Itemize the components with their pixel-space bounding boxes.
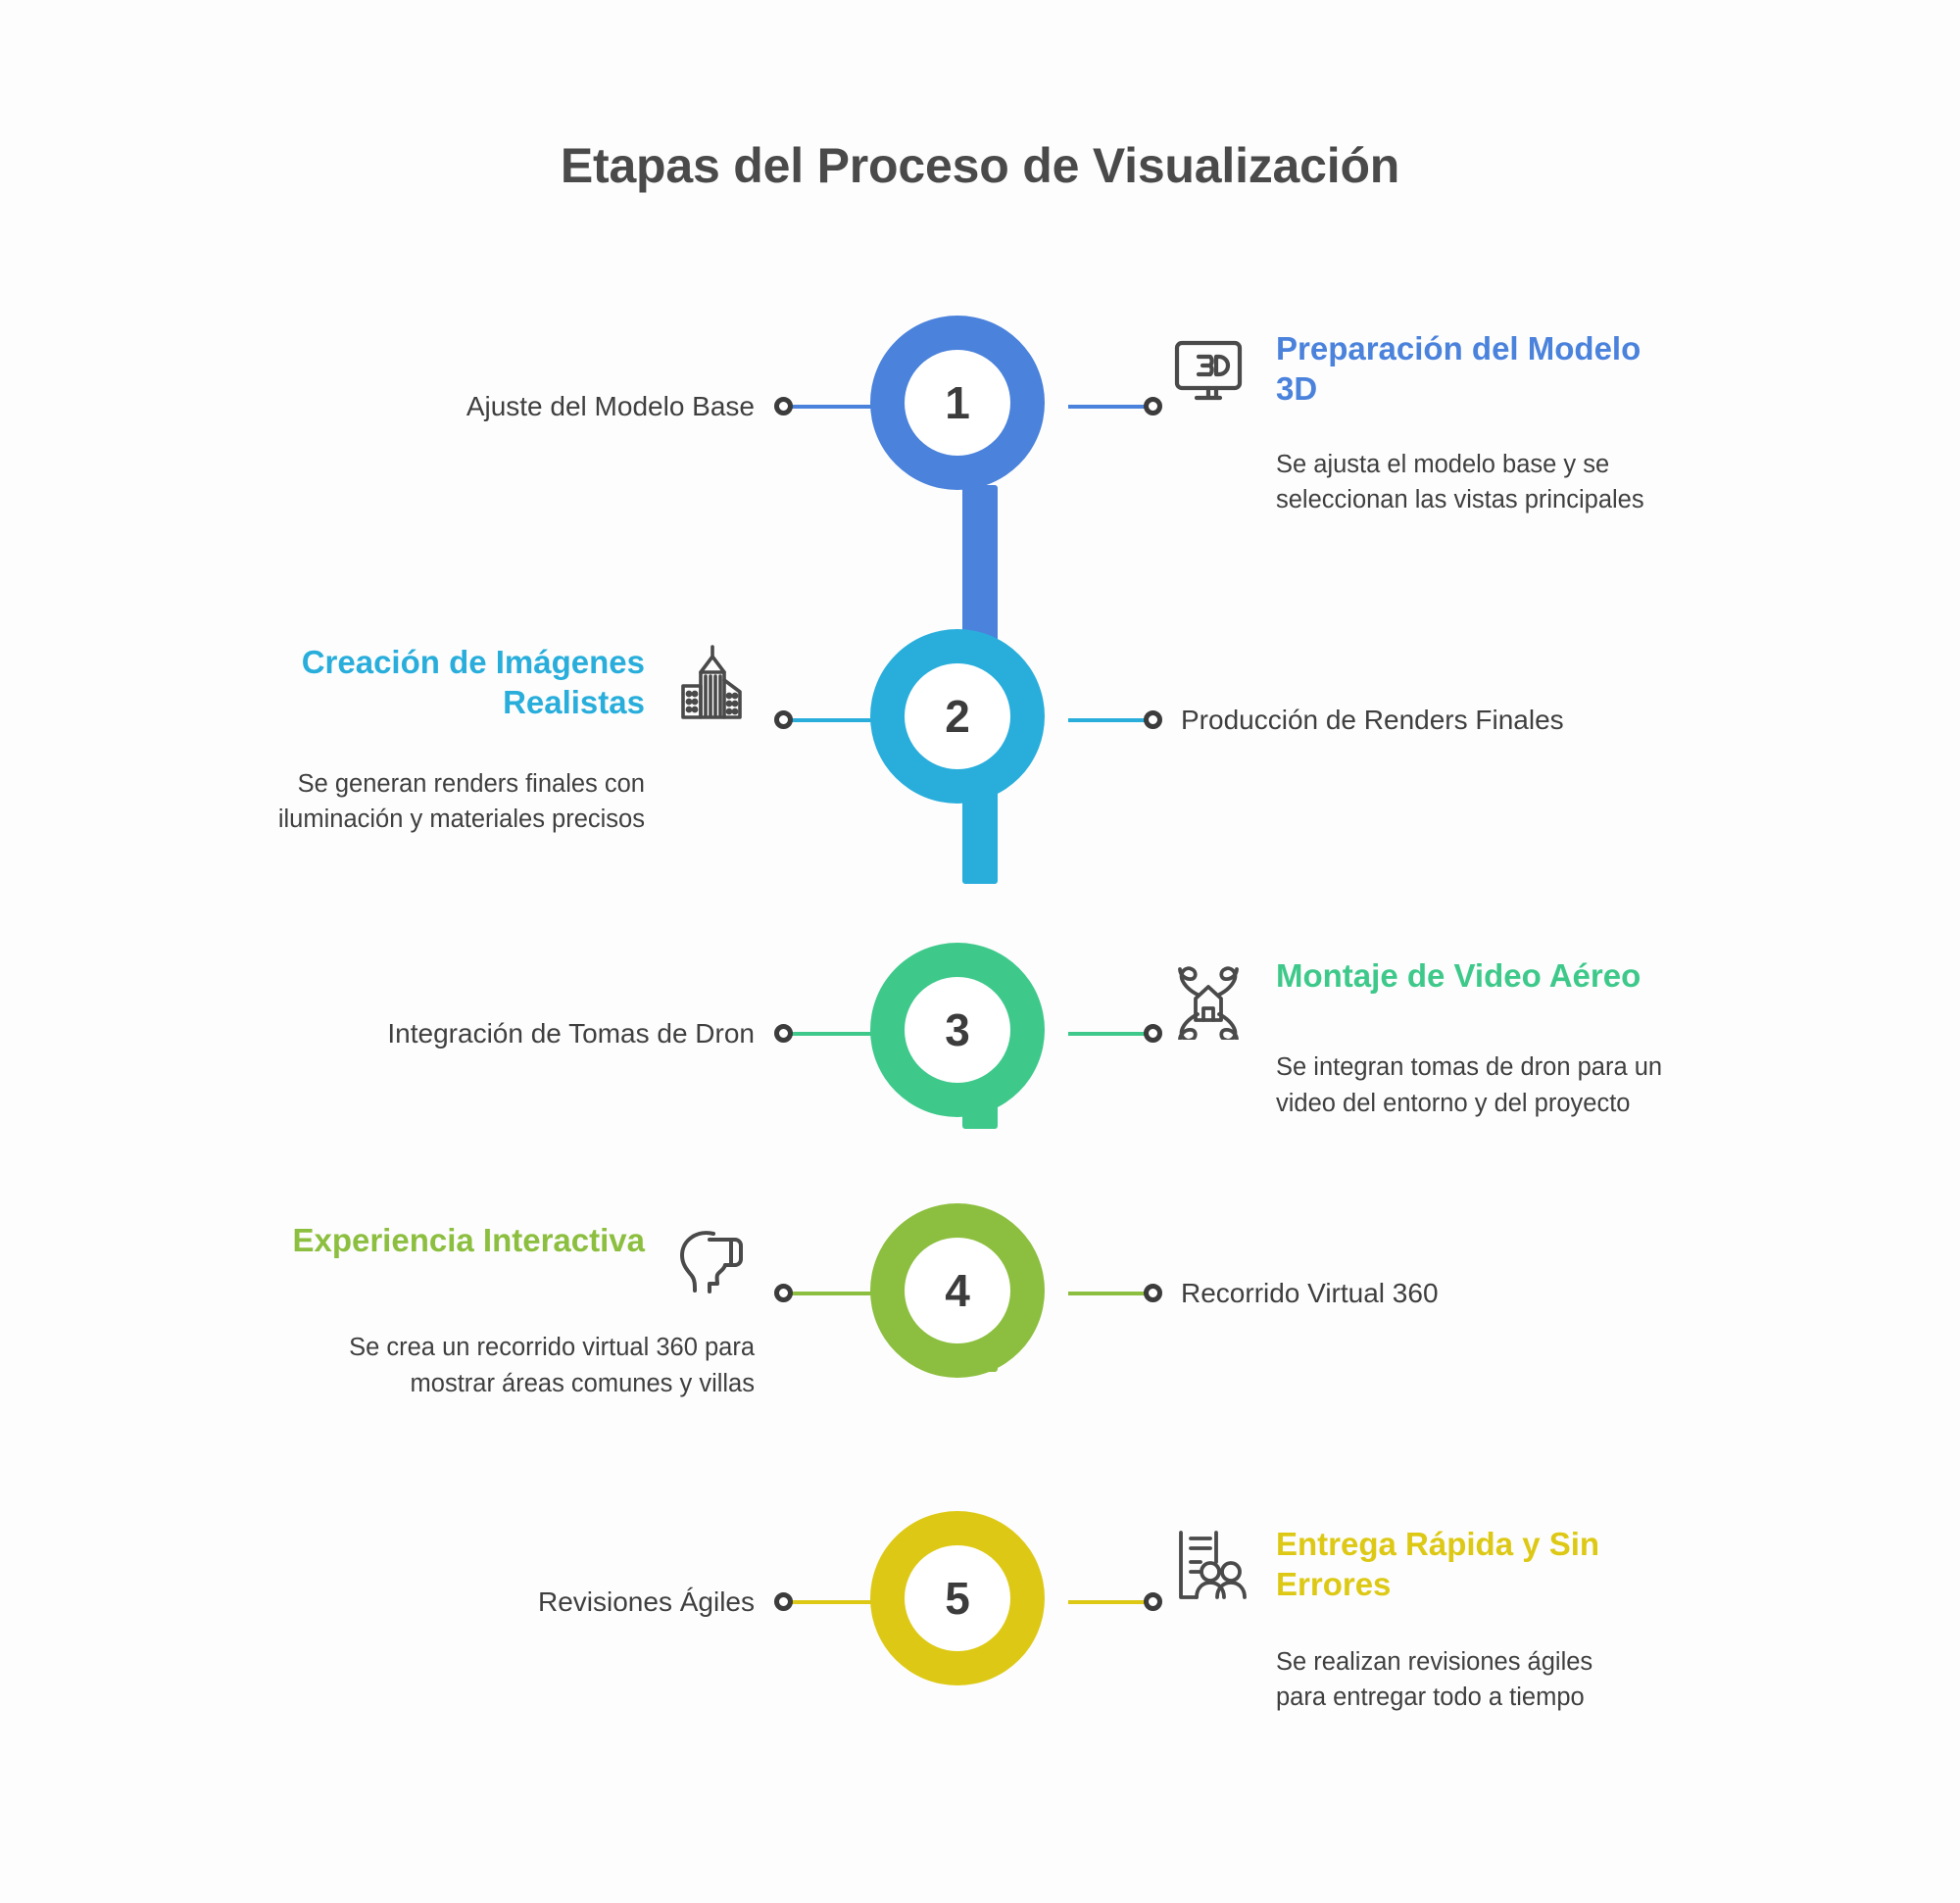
- step-1-detail-title: Preparación del Modelo 3D: [1276, 328, 1656, 410]
- step-1-node[interactable]: 1: [870, 316, 1045, 490]
- step-5-node[interactable]: 5: [870, 1511, 1045, 1685]
- step-3-side-label: Integración de Tomas de Dron: [387, 1017, 755, 1050]
- step-1-number: 1: [905, 350, 1010, 456]
- connector-line-step-1-right: [1068, 405, 1151, 409]
- step-2-detail-body: Se generan renders finales con iluminaci…: [255, 766, 645, 839]
- spine-1-2: [962, 485, 998, 642]
- step-2-node[interactable]: 2: [870, 629, 1045, 804]
- step-5-detail-title: Entrega Rápida y Sin Errores: [1276, 1524, 1637, 1605]
- step-1-detail: Preparación del Modelo 3D Se ajusta el m…: [1166, 328, 1656, 518]
- connector-line-step-4-right: [1068, 1292, 1151, 1295]
- connector-dot-step-4-right: [1144, 1284, 1162, 1302]
- step-3-detail-body: Se integran tomas de dron para un video …: [1276, 1049, 1676, 1122]
- step-5-detail-body: Se realizan revisiones ágiles para entre…: [1276, 1644, 1637, 1717]
- infographic-canvas: Etapas del Proceso de Visualización Ajus…: [0, 0, 1960, 1903]
- connector-line-step-5-right: [1068, 1600, 1151, 1604]
- step-3-detail-title: Montaje de Video Aéreo: [1276, 955, 1676, 996]
- step-5-side-label: Revisiones Ágiles: [538, 1586, 755, 1619]
- connector-dot-step-1-right: [1144, 397, 1162, 415]
- vr-headset-icon: [670, 1220, 755, 1304]
- page-title: Etapas del Proceso de Visualización: [0, 137, 1960, 194]
- step-2-side-label: Producción de Renders Finales: [1181, 704, 1564, 737]
- connector-line-step-2-right: [1068, 718, 1151, 722]
- step-3-detail: Montaje de Video Aéreo Se integran tomas…: [1166, 955, 1676, 1122]
- connector-dot-step-1: [774, 397, 793, 415]
- step-4-number: 4: [905, 1238, 1010, 1343]
- connector-dot-step-5: [774, 1592, 793, 1611]
- step-2-detail-title: Creación de Imágenes Realistas: [255, 642, 645, 723]
- connector-dot-step-2: [774, 710, 793, 729]
- step-4-detail: Experiencia Interactiva Se crea un recor…: [265, 1220, 755, 1402]
- step-3-number: 3: [905, 977, 1010, 1083]
- connector-dot-step-3: [774, 1024, 793, 1043]
- connector-dot-step-5-right: [1144, 1592, 1162, 1611]
- connector-line-step-3-right: [1068, 1032, 1151, 1036]
- drone-icon: [1166, 955, 1250, 1040]
- connector-dot-step-2-right: [1144, 710, 1162, 729]
- step-4-detail-title: Experiencia Interactiva: [265, 1220, 645, 1260]
- step-4-node[interactable]: 4: [870, 1203, 1045, 1378]
- step-2-number: 2: [905, 663, 1010, 769]
- step-4-detail-body: Se crea un recorrido virtual 360 para mo…: [265, 1330, 755, 1402]
- step-1-detail-body: Se ajusta el modelo base y se selecciona…: [1276, 447, 1656, 519]
- step-3-node[interactable]: 3: [870, 943, 1045, 1117]
- step-4-side-label: Recorrido Virtual 360: [1181, 1277, 1439, 1310]
- building-icon: [670, 642, 755, 726]
- step-2-detail: Creación de Imágenes Realistas Se genera…: [255, 642, 755, 838]
- step-5-detail: Entrega Rápida y Sin Errores Se realizan…: [1166, 1524, 1637, 1716]
- document-people-icon: [1166, 1524, 1250, 1608]
- monitor-3d-icon: [1166, 328, 1250, 413]
- connector-dot-step-4: [774, 1284, 793, 1302]
- step-1-side-label: Ajuste del Modelo Base: [466, 390, 755, 423]
- step-5-number: 5: [905, 1545, 1010, 1651]
- connector-dot-step-3-right: [1144, 1024, 1162, 1043]
